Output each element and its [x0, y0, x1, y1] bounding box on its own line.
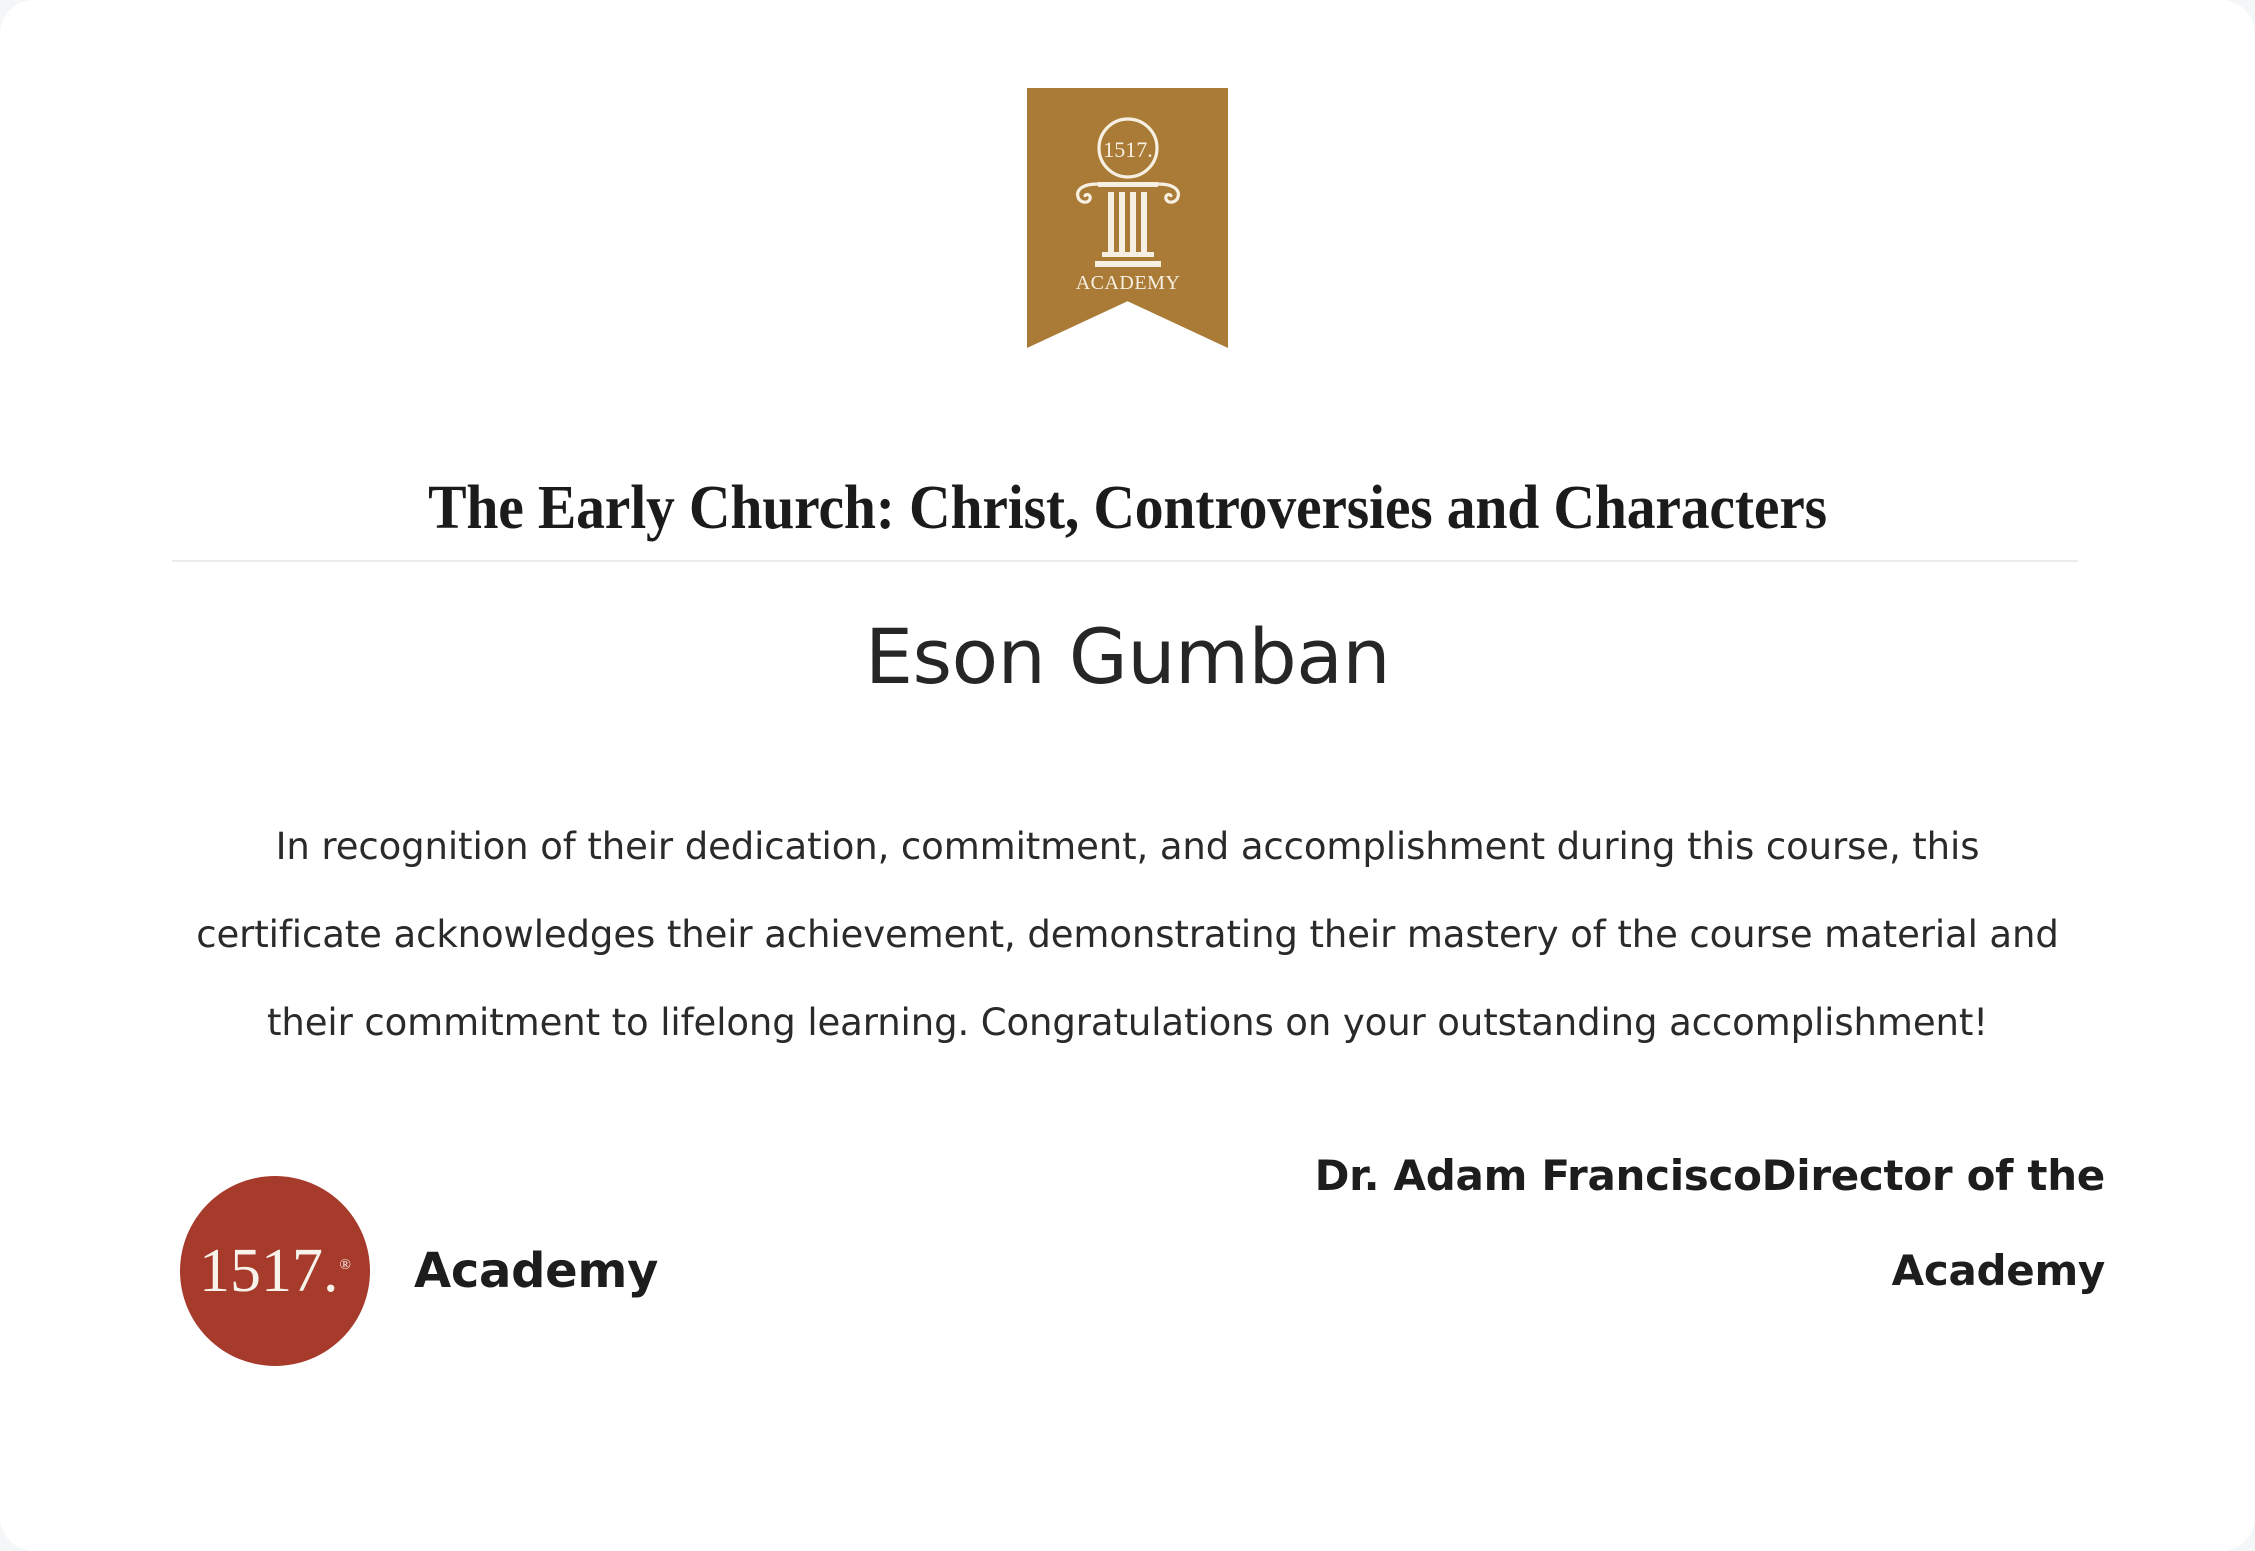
course-title: The Early Church: Christ, Controversies …: [191, 474, 2065, 543]
recognition-paragraph: In recognition of their dedication, comm…: [180, 803, 2075, 1067]
badge-period: .: [323, 1237, 339, 1305]
badge-number: 1517: [199, 1237, 323, 1305]
certificate-footer: 1517.® Academy Dr. Adam FranciscoDirecto…: [180, 1128, 2105, 1366]
ionic-column-icon: 1517. ACADEMY: [1064, 114, 1192, 294]
logo-wordmark-text: ACADEMY: [1075, 272, 1180, 294]
logo-container: 1517. ACADEMY: [0, 88, 2255, 348]
certificate-card: 1517. ACADEMY The Early Church: Christ, …: [0, 0, 2255, 1551]
academy-ribbon-logo: 1517. ACADEMY: [1027, 88, 1228, 348]
signatory-block: Dr. Adam FranciscoDirector of the Academ…: [1285, 1128, 2105, 1318]
badge-text: 1517.®: [199, 1240, 351, 1302]
brand-block: 1517.® Academy: [180, 1176, 658, 1366]
1517-badge-icon: 1517.®: [180, 1176, 370, 1366]
badge-registered-mark: ®: [340, 1257, 351, 1273]
recipient-name: Eson Gumban: [120, 612, 2135, 702]
brand-label: Academy: [414, 1243, 658, 1299]
title-divider: [172, 560, 2078, 562]
logo-year-text: 1517.: [1103, 137, 1153, 162]
